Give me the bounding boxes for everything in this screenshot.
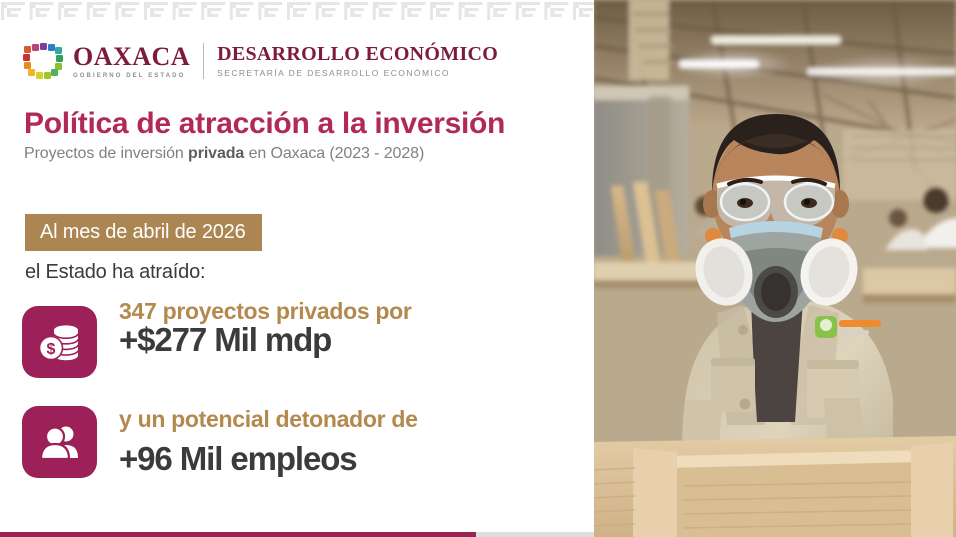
greca-stepped-fret-border [0, 0, 594, 20]
department-lockup: DESARROLLO ECONÓMICO SECRETARÍA DE DESAR… [217, 44, 498, 78]
department-subtitle: SECRETARÍA DE DESARROLLO ECONÓMICO [217, 68, 498, 78]
stat-investment-text: 347 proyectos privados por +$277 Mil mdp [119, 306, 412, 356]
lead-text: el Estado ha atraído: [25, 262, 205, 282]
header-divider [203, 43, 204, 79]
subtitle-emphasis: privada [188, 145, 244, 162]
brand-header: OAXACA GOBIERNO DEL ESTADO DESARROLLO EC… [22, 41, 498, 81]
page-subtitle: Proyectos de inversión privada en Oaxaca… [24, 146, 424, 162]
stat-jobs-text: y un potencial detonador de +96 Mil empl… [119, 406, 418, 475]
subtitle-part-2: en Oaxaca (2023 - 2028) [244, 145, 424, 162]
stat-jobs-value: +96 Mil empleos [119, 442, 418, 475]
bottom-accent-bar-grey [476, 532, 594, 537]
stat-investment-value: +$277 Mil mdp [119, 323, 412, 356]
presentation-slide: OAXACA GOBIERNO DEL ESTADO DESARROLLO EC… [0, 0, 956, 537]
svg-text:$: $ [46, 341, 55, 358]
factory-worker-photo [593, 0, 956, 537]
page-title: Política de atracción a la inversión [24, 109, 505, 139]
stat-jobs-label: y un potencial detonador de [119, 408, 418, 431]
bottom-accent-bar [0, 532, 476, 537]
stat-investment: $ 347 proyectos privados por +$277 Mil m… [22, 306, 412, 378]
department-title: DESARROLLO ECONÓMICO [217, 44, 498, 65]
stat-jobs: y un potencial detonador de +96 Mil empl… [22, 406, 418, 478]
subtitle-part-1: Proyectos de inversión [24, 145, 188, 162]
state-name: OAXACA [73, 44, 190, 70]
oaxaca-state-emblem-icon [22, 41, 64, 81]
money-coins-icon: $ [22, 306, 97, 378]
state-wordmark: OAXACA GOBIERNO DEL ESTADO [73, 44, 190, 79]
people-group-icon [22, 406, 97, 478]
stat-investment-label: 347 proyectos privados por [119, 300, 412, 323]
period-badge: Al mes de abril de 2026 [25, 214, 262, 251]
state-tagline: GOBIERNO DEL ESTADO [73, 73, 190, 79]
